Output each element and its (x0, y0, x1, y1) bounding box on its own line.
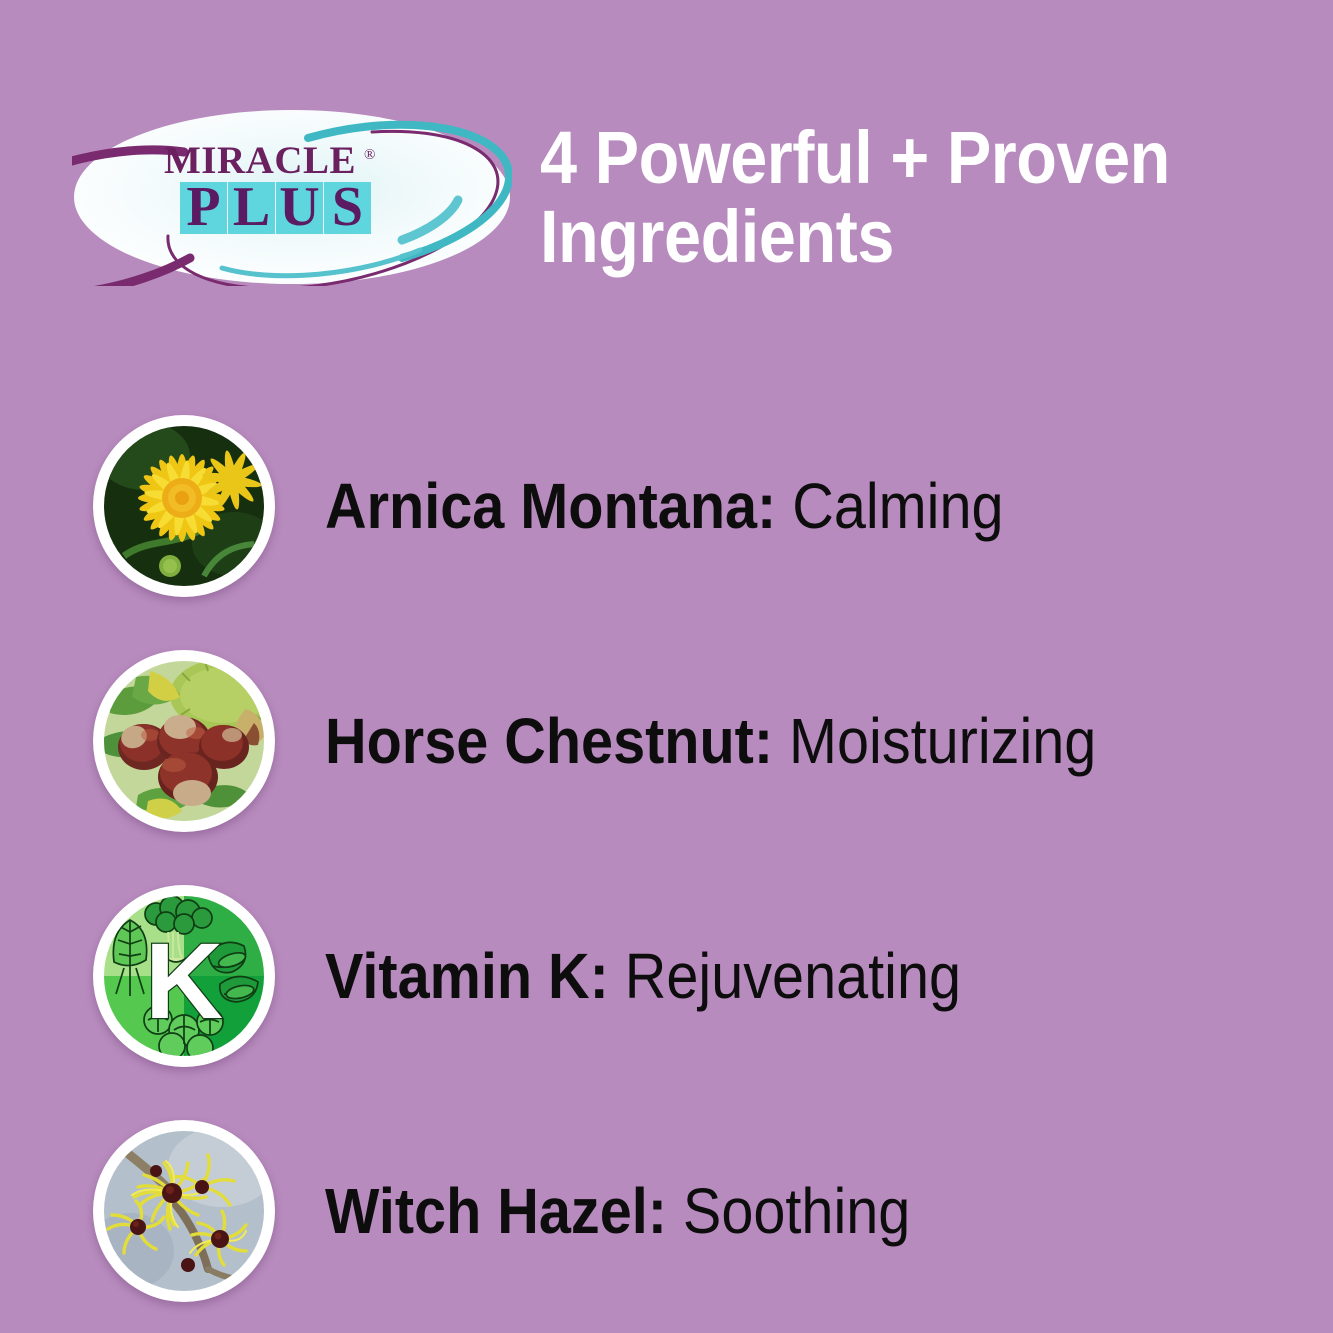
vitamin-k-greens-icon: K (93, 885, 275, 1067)
logo-wordmark: MIRACLE® P L U S (164, 141, 414, 251)
list-item-text: Witch Hazel: Soothing (325, 1179, 910, 1243)
ingredient-name: Arnica Montana: (325, 470, 776, 542)
witch-hazel-flower-icon (93, 1120, 275, 1302)
icon-image (104, 426, 264, 586)
logo-letter-tile: L (228, 182, 275, 234)
ingredient-name: Vitamin K: (325, 940, 609, 1012)
registered-trademark-icon: ® (364, 147, 376, 163)
ingredient-name: Witch Hazel: (325, 1175, 667, 1247)
ingredient-benefit: Soothing (683, 1175, 910, 1247)
logo-letter-tile: S (324, 182, 371, 234)
page-title-line-2: Ingredients (540, 197, 1224, 276)
icon-image: K (104, 896, 264, 1056)
page-title-line-1: 4 Powerful + Proven (540, 118, 1224, 197)
ingredient-name: Horse Chestnut: (325, 705, 773, 777)
horse-chestnut-icon (93, 650, 275, 832)
list-item-text: Horse Chestnut: Moisturizing (325, 709, 1096, 773)
logo-word-plus: P L U S (180, 182, 414, 234)
logo-word-miracle: MIRACLE® (164, 141, 414, 180)
ingredient-benefit: Rejuvenating (625, 940, 961, 1012)
arnica-montana-flower-icon (93, 415, 275, 597)
svg-text:K: K (145, 920, 223, 1041)
ingredient-benefit: Moisturizing (789, 705, 1096, 777)
arnica-flower-graphic (104, 426, 264, 586)
vitamin-k-graphic: K (104, 896, 264, 1056)
horse-chestnut-graphic (104, 661, 264, 821)
list-item: Horse Chestnut: Moisturizing (0, 623, 1333, 858)
ingredient-benefit: Calming (792, 470, 1003, 542)
page-title: 4 Powerful + Proven Ingredients (540, 118, 1224, 276)
miracle-plus-logo: MIRACLE® P L U S (72, 108, 512, 286)
ingredient-list: Arnica Montana: Calming (0, 388, 1333, 1328)
logo-letter-tile: U (276, 182, 323, 234)
list-item: K Vitamin K: Rejuvenating (0, 858, 1333, 1093)
logo-letter-tile: P (180, 182, 227, 234)
ingredients-infographic: MIRACLE® P L U S 4 Powerful + Proven Ing… (0, 0, 1333, 1333)
icon-image (104, 1131, 264, 1291)
witch-hazel-graphic (104, 1131, 264, 1291)
list-item: Witch Hazel: Soothing (0, 1093, 1333, 1328)
list-item-text: Arnica Montana: Calming (325, 474, 1004, 538)
list-item-text: Vitamin K: Rejuvenating (325, 944, 961, 1008)
icon-image (104, 661, 264, 821)
header: MIRACLE® P L U S 4 Powerful + Proven Ing… (0, 0, 1333, 330)
list-item: Arnica Montana: Calming (0, 388, 1333, 623)
